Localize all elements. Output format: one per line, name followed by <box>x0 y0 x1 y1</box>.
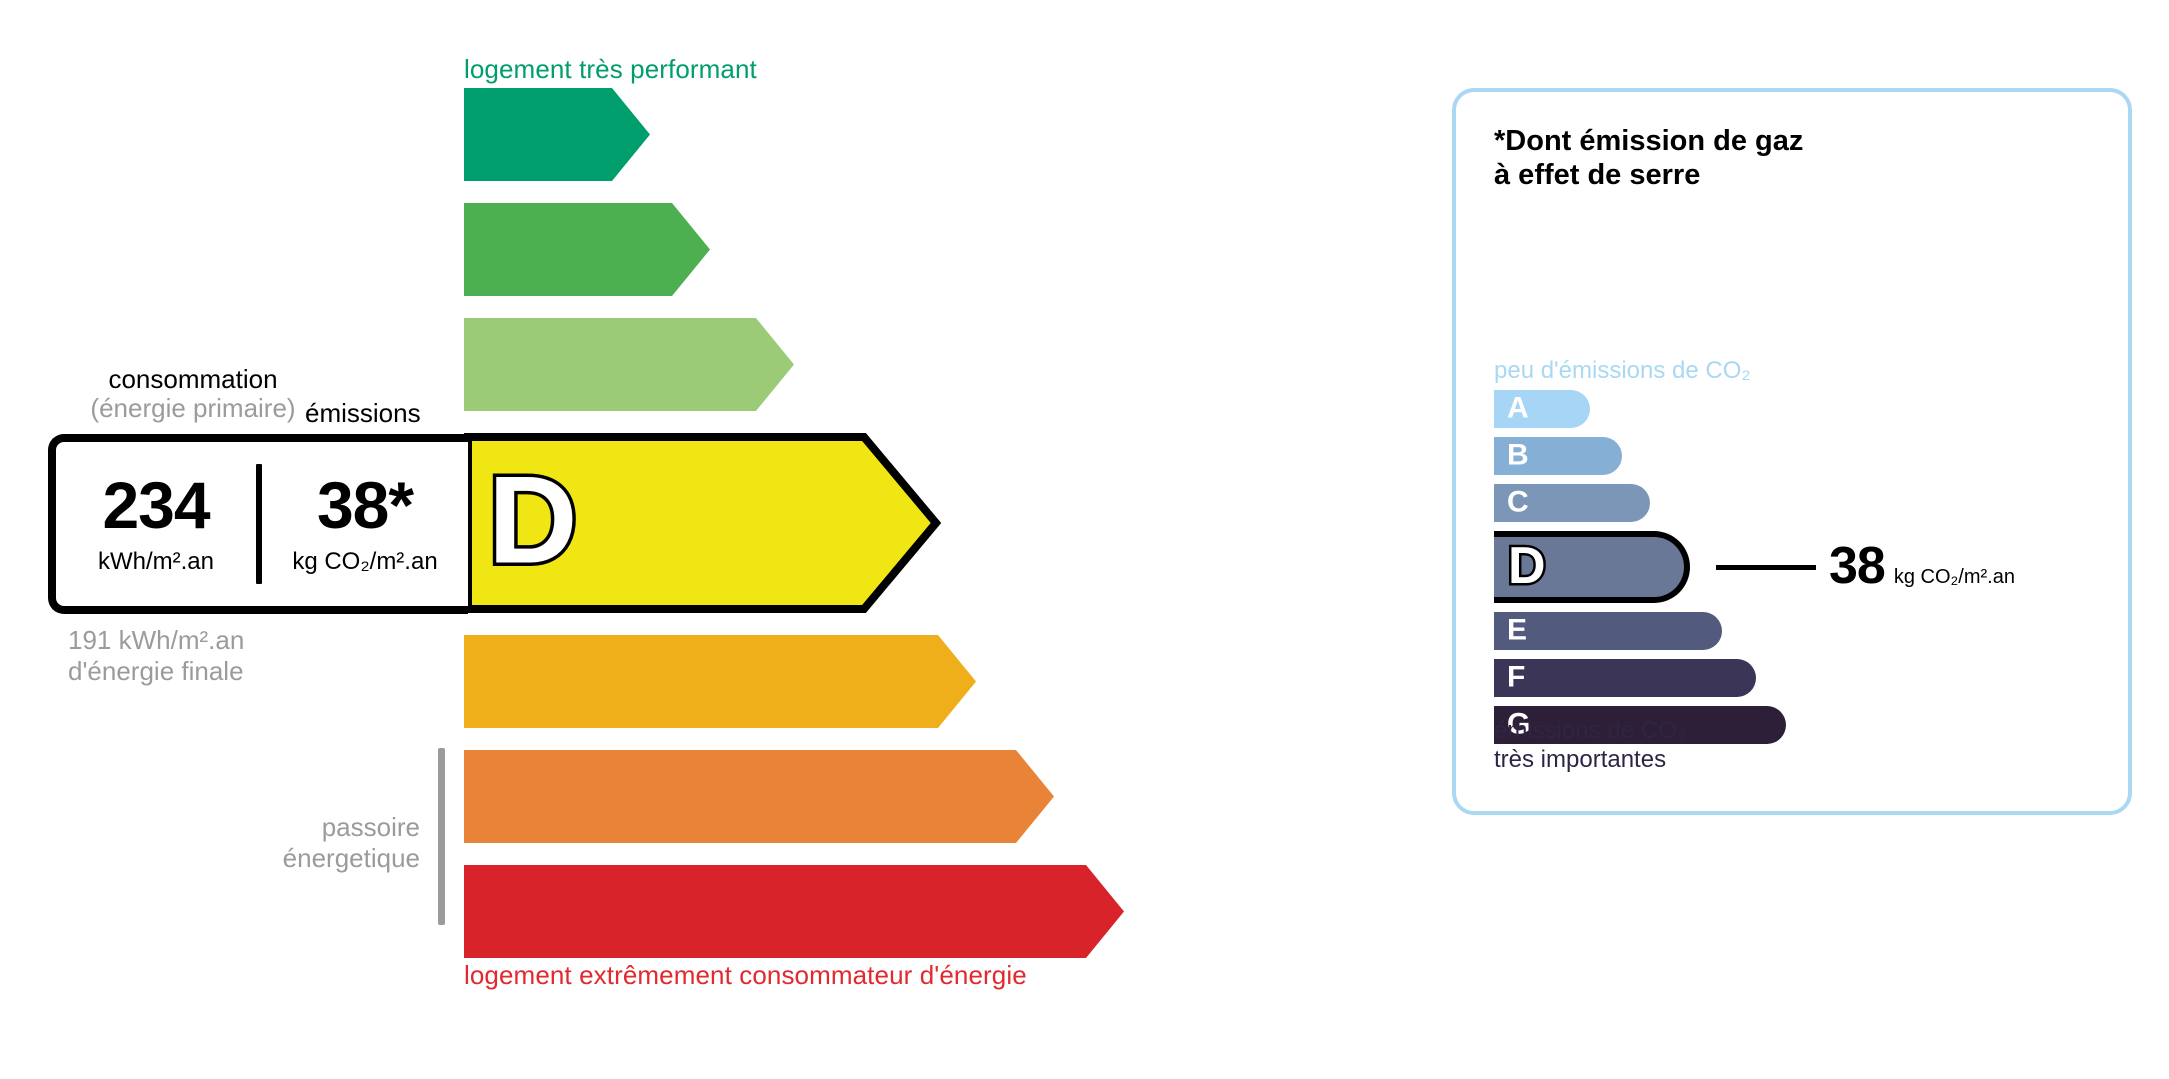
passoire-bracket <box>438 748 445 925</box>
dpe-row-d-selected: D <box>464 433 1264 613</box>
dpe-arrow-c <box>464 318 794 411</box>
dpe-caption-bottom: logement extrêmement consommateur d'éner… <box>464 960 1027 991</box>
co2-row-c: C <box>1494 484 1914 522</box>
co2-value-number: 38 <box>1829 540 1885 592</box>
dpe-row-b: B <box>464 203 1264 296</box>
dpe-energy-ladder-panel: logement très performant A B C <box>0 0 1340 1079</box>
co2-bar-b: B <box>1494 437 1622 475</box>
co2-panel-title: *Dont émission de gaz à effet de serre <box>1494 124 1803 192</box>
consumption-label-sub: (énergie primaire) <box>68 394 318 423</box>
passoire-label: passoire énergetique <box>180 812 420 874</box>
emissions-value: 38* <box>317 472 413 538</box>
dpe-arrow-e <box>464 635 976 728</box>
dpe-row-e: E <box>464 635 1264 728</box>
co2-row-f: F <box>1494 659 1914 697</box>
co2-bar-e: E <box>1494 612 1722 650</box>
co2-bar-c: C <box>1494 484 1650 522</box>
emissions-label: émissions <box>305 398 421 429</box>
dpe-arrow-f <box>464 750 1054 843</box>
co2-row-a: A <box>1494 390 1914 428</box>
dpe-arrow-g <box>464 865 1124 958</box>
consumption-unit: kWh/m².an <box>98 548 214 576</box>
co2-bar-f: F <box>1494 659 1756 697</box>
co2-letter-b: B <box>1507 440 1529 470</box>
emissions-value-cell: 38* kg CO₂/m².an <box>262 442 468 606</box>
co2-letter-d: D <box>1508 540 1546 592</box>
co2-caption-bottom-line1: émissions de CO₂ <box>1494 717 1686 744</box>
co2-row-e: E <box>1494 612 1914 650</box>
passoire-label-line1: passoire <box>322 812 420 842</box>
co2-leader-line <box>1716 565 1816 570</box>
dpe-arrow-a <box>464 88 650 181</box>
dpe-row-f: F <box>464 750 1264 843</box>
dpe-row-g: G <box>464 865 1264 958</box>
co2-bar-d: D <box>1494 531 1690 603</box>
co2-caption-bottom-line2: très importantes <box>1494 746 1666 773</box>
passoire-label-line2: énergetique <box>283 843 420 873</box>
dpe-arrow-stack: A B C D <box>464 88 1264 980</box>
final-energy-note: 191 kWh/m².an d'énergie finale <box>68 625 244 687</box>
co2-letter-e: E <box>1507 615 1527 645</box>
consumption-label-main: consommation <box>108 364 277 394</box>
co2-title-line2: à effet de serre <box>1494 159 1700 191</box>
final-energy-note-line2: d'énergie finale <box>68 656 244 686</box>
co2-bar-stack: A B C D 38 kg CO₂/m².an E <box>1494 390 1914 753</box>
co2-caption-bottom: émissions de CO₂ très importantes <box>1494 717 1686 775</box>
dpe-row-c: C <box>464 318 1264 411</box>
co2-letter-f: F <box>1507 662 1525 692</box>
co2-row-b: B <box>1494 437 1914 475</box>
co2-row-d-selected: D 38 kg CO₂/m².an <box>1494 531 1914 603</box>
consumption-value-cell: 234 kWh/m².an <box>56 442 256 606</box>
co2-value-annotation: 38 kg CO₂/m².an <box>1829 540 2015 592</box>
emissions-unit: kg CO₂/m².an <box>292 548 437 576</box>
co2-bar-a: A <box>1494 390 1590 428</box>
final-energy-note-line1: 191 kWh/m².an <box>68 625 244 655</box>
dpe-letter-d: D <box>488 459 578 583</box>
co2-value-unit: kg CO₂/m².an <box>1894 566 2015 589</box>
co2-letter-a: A <box>1507 393 1529 423</box>
co2-caption-top: peu d'émissions de CO₂ <box>1494 357 1751 385</box>
co2-emissions-panel: *Dont émission de gaz à effet de serre p… <box>1452 88 2132 815</box>
dpe-caption-top: logement très performant <box>464 54 757 85</box>
co2-letter-c: C <box>1507 487 1529 517</box>
dpe-arrow-b <box>464 203 710 296</box>
dpe-row-a: A <box>464 88 1264 181</box>
co2-title-line1: *Dont émission de gaz <box>1494 125 1803 157</box>
dpe-value-box: 234 kWh/m².an 38* kg CO₂/m².an <box>48 434 468 614</box>
consumption-label: consommation (énergie primaire) <box>68 365 318 423</box>
consumption-value: 234 <box>102 472 209 538</box>
